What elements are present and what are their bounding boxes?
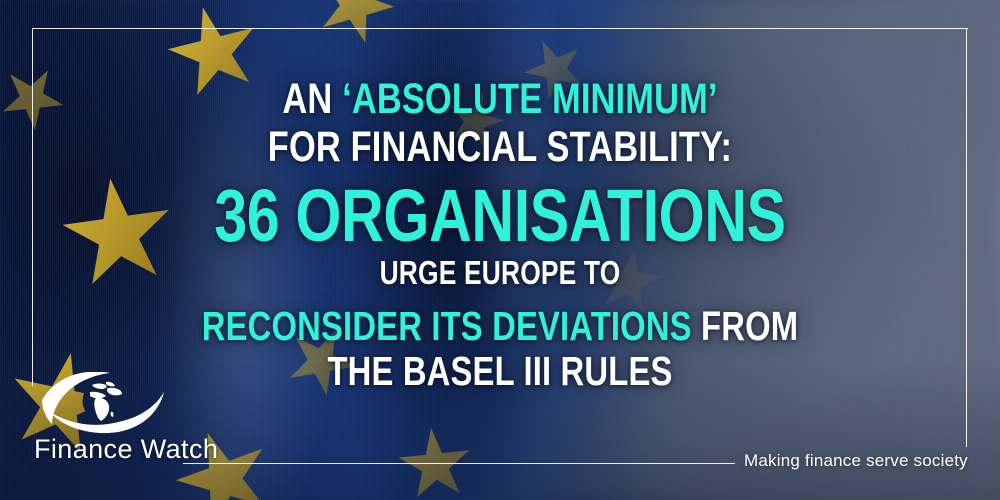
headline-line-5-cyan: RECONSIDER ITS DEVIATIONS: [202, 303, 692, 349]
headline-line-5-white: FROM: [692, 303, 798, 349]
finance-watch-logo[interactable]: Finance Watch: [34, 372, 194, 480]
headline-line-1-white: AN: [282, 75, 342, 123]
headline-line-3: 36 ORGANISATIONS: [100, 178, 900, 253]
tagline-text: Making finance serve society: [744, 451, 968, 471]
headline-line-4: URGE EUROPE TO: [100, 256, 900, 290]
headline-block: AN ‘ABSOLUTE MINIMUM’ FOR FINANCIAL STAB…: [0, 78, 1000, 392]
finance-watch-banner: AN ‘ABSOLUTE MINIMUM’ FOR FINANCIAL STAB…: [0, 0, 1000, 500]
logo-wordmark: Finance Watch: [34, 434, 218, 465]
headline-line-6: THE BASEL III RULES: [100, 351, 900, 393]
globe-eye-icon: [40, 372, 166, 434]
headline-line-2: FOR FINANCIAL STABILITY:: [100, 126, 900, 170]
headline-line-1: AN ‘ABSOLUTE MINIMUM’: [100, 78, 900, 122]
tagline-rule: [183, 463, 735, 464]
headline-line-5: RECONSIDER ITS DEVIATIONS FROM: [100, 306, 900, 348]
frame-line-top: [32, 28, 968, 29]
headline-line-1-cyan: ‘ABSOLUTE MINIMUM’: [342, 75, 718, 123]
